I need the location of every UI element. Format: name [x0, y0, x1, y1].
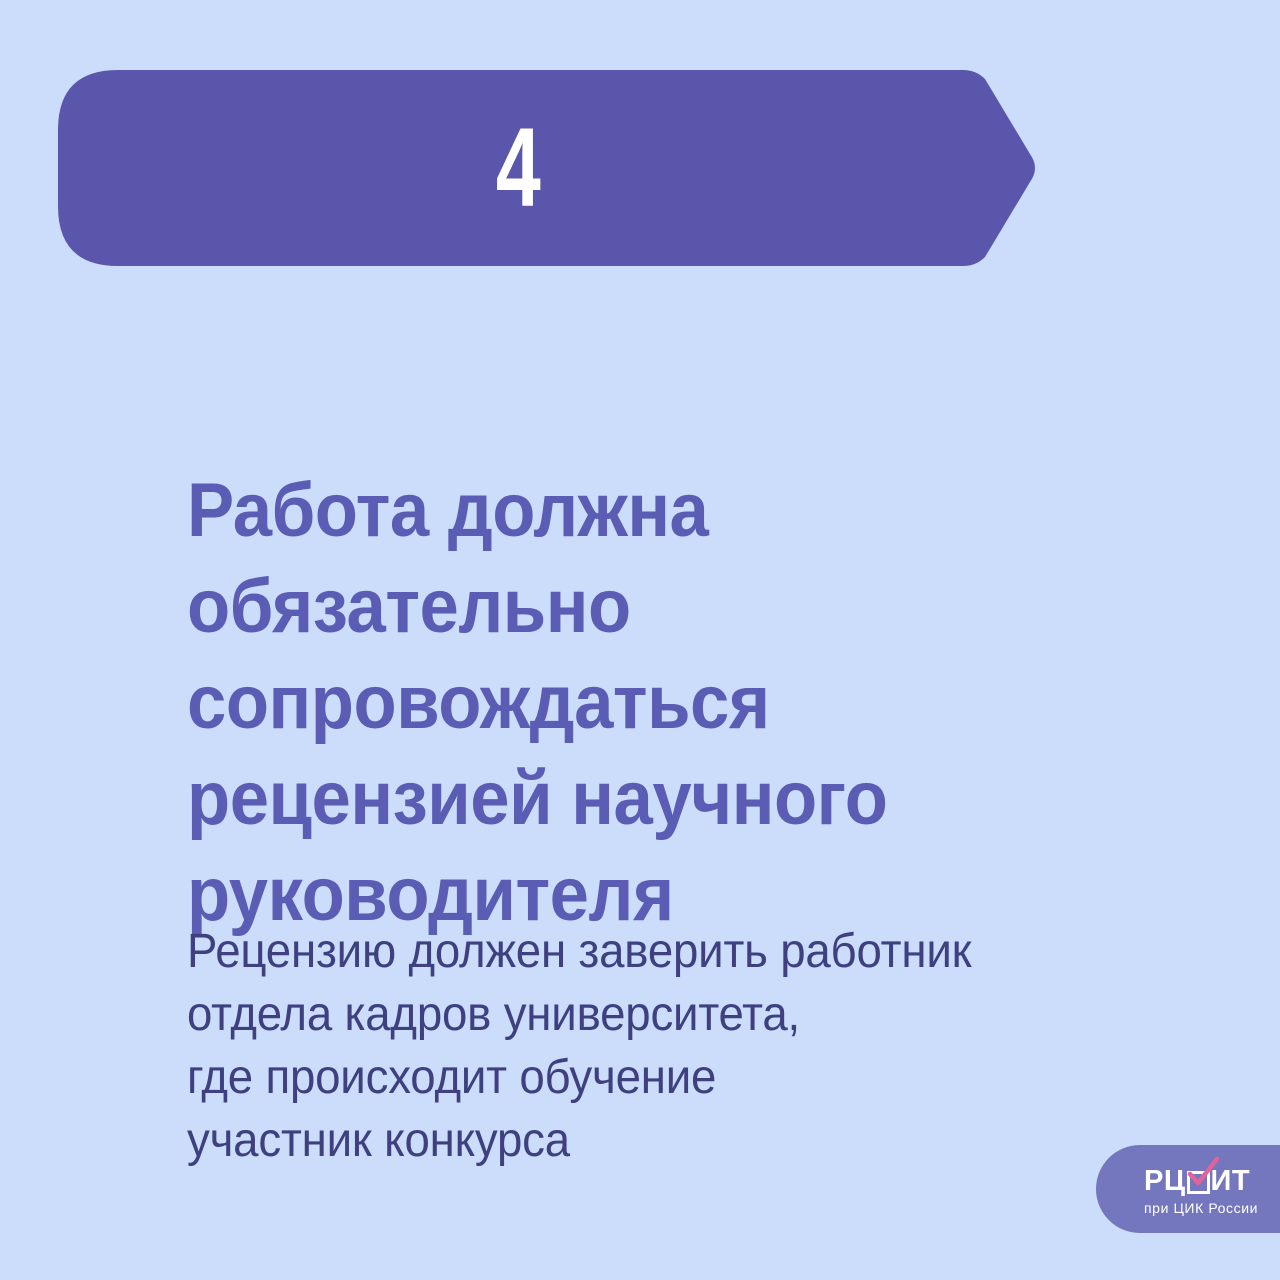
step-number: 4: [187, 70, 849, 266]
logo-subtitle: при ЦИК России: [1144, 1199, 1258, 1217]
logo-wordmark: РЦ ИТ: [1144, 1162, 1250, 1196]
logo-text-left: РЦ: [1144, 1166, 1186, 1196]
headline: Работа должна обязательно сопровождаться…: [187, 463, 1126, 943]
checkmark-icon: [1186, 1158, 1220, 1188]
ballot-box-icon: [1187, 1171, 1210, 1194]
body-copy: Рецензию должен заверить работник отдела…: [187, 920, 1137, 1172]
step-banner: 4: [58, 70, 1040, 266]
slide-canvas: 4 Работа должна обязательно сопровождать…: [0, 0, 1280, 1280]
logo-badge: РЦ ИТ при ЦИК России: [1096, 1145, 1280, 1233]
